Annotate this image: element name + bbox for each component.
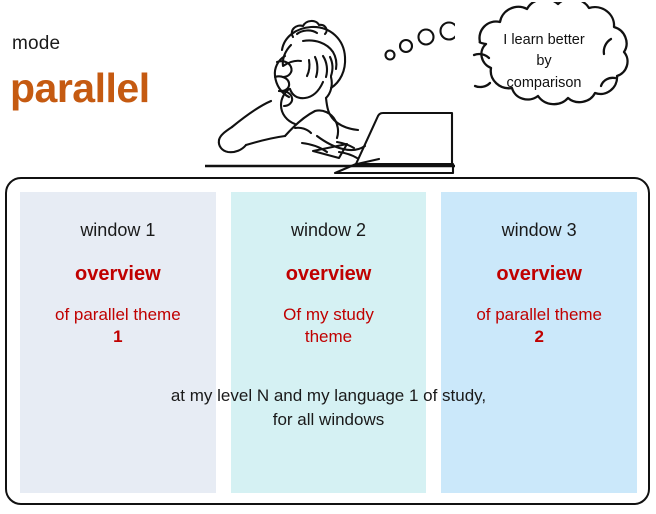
window-panel-3[interactable]: window 3 overview of parallel theme 2 — [441, 192, 637, 493]
person-studying-at-laptop-illustration — [205, 0, 455, 174]
windows-panel-group: window 1 overview of parallel theme 1 wi… — [20, 192, 637, 493]
thought-line-2: by — [466, 51, 622, 72]
thought-line-3: comparison — [466, 73, 622, 94]
window-2-overview-label: overview — [231, 264, 427, 284]
window-2-desc-line1: Of my study — [233, 304, 425, 326]
thought-line-1: I learn better — [466, 30, 622, 51]
window-2-title: window 2 — [231, 221, 427, 239]
window-1-title: window 1 — [20, 221, 216, 239]
window-3-desc-line2: 2 — [443, 326, 635, 348]
window-panel-1[interactable]: window 1 overview of parallel theme 1 — [20, 192, 216, 493]
window-1-overview-label: overview — [20, 264, 216, 284]
window-2-description: Of my study theme — [233, 304, 425, 348]
window-1-desc-line1: of parallel theme — [22, 304, 214, 326]
window-3-desc-line1: of parallel theme — [443, 304, 635, 326]
header: mode parallel — [0, 0, 656, 172]
thought-bubble-text: I learn better by comparison — [466, 30, 622, 94]
mode-label: mode — [12, 34, 60, 53]
window-3-description: of parallel theme 2 — [443, 304, 635, 348]
window-3-overview-label: overview — [441, 264, 637, 284]
window-2-desc-line2: theme — [233, 326, 425, 348]
window-3-title: window 3 — [441, 221, 637, 239]
mode-value: parallel — [10, 68, 150, 109]
window-1-desc-line2: 1 — [22, 326, 214, 348]
window-1-description: of parallel theme 1 — [22, 304, 214, 348]
window-panel-2[interactable]: window 2 overview Of my study theme — [231, 192, 427, 493]
